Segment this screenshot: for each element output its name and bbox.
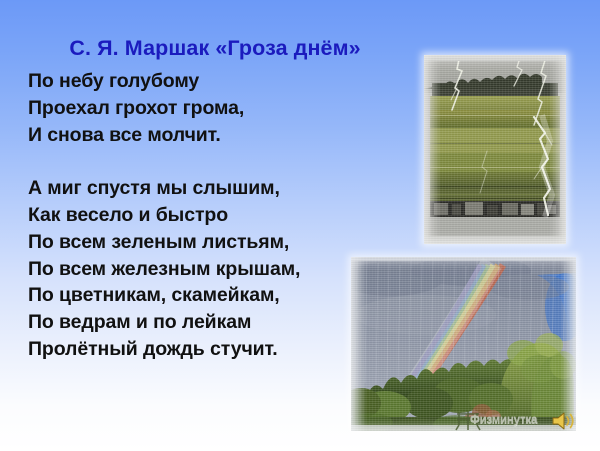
speaker-icon[interactable] [551,409,577,433]
presentation-slide: С. Я. Маршак «Гроза днём» По небу голубо… [0,0,600,451]
poem-line: И снова все молчит. [28,122,418,149]
poem-line-spacer [28,148,418,175]
page-title: С. Я. Маршак «Гроза днём» [0,36,430,61]
poem-line: Как весело и быстро [28,202,418,229]
poem-line: Проехал грохот грома, [28,95,418,122]
lightning-over-field-photo [424,55,566,244]
watermark-label: Физминутка [470,414,537,426]
lightning-photo-graphic [424,55,566,244]
poem-line: По всем зеленым листьям, [28,229,418,256]
poem-line: По небу голубому [28,68,418,95]
poem-line: А миг спустя мы слышим, [28,175,418,202]
